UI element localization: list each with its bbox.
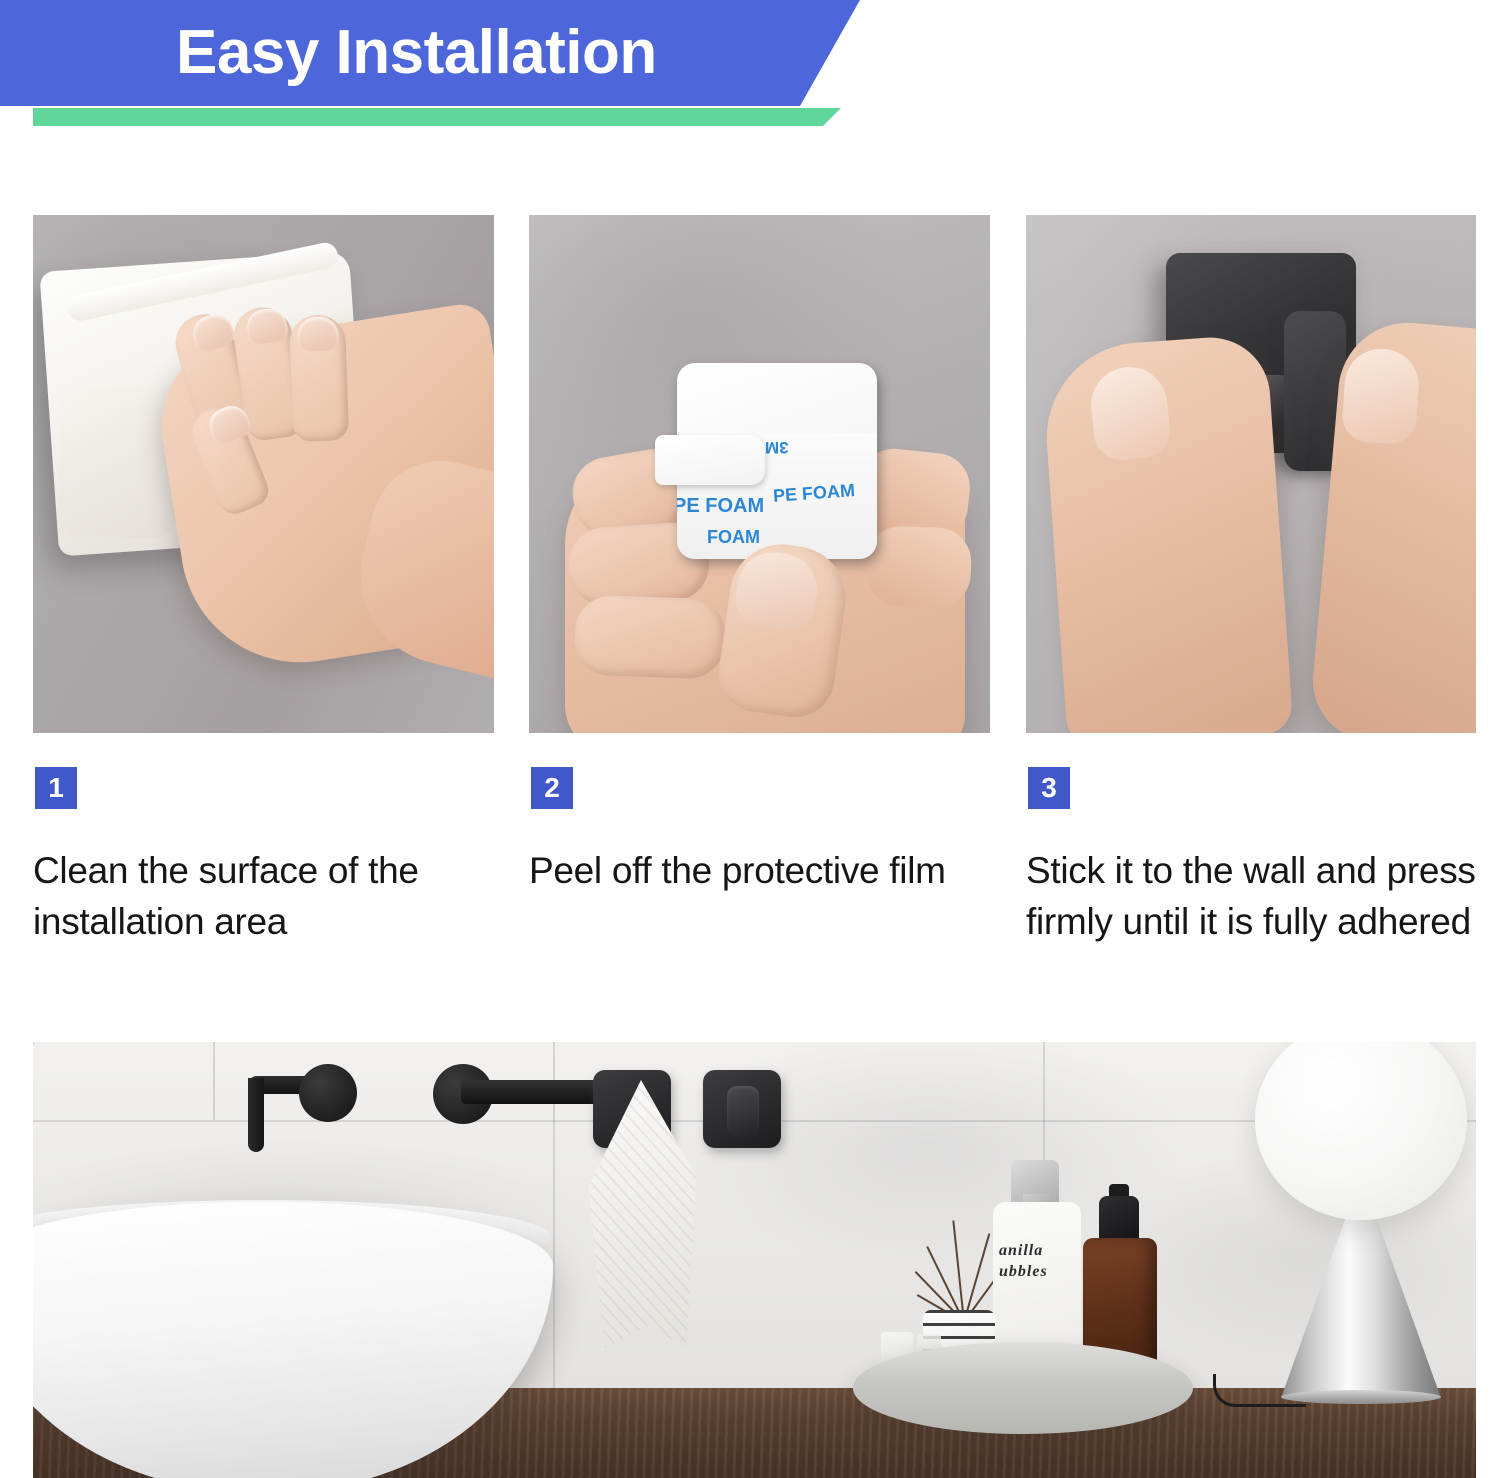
twig (963, 1233, 990, 1322)
step-3-number-badge: 3 (1028, 767, 1070, 809)
liner-text: PE FOAM (772, 480, 855, 507)
step-1-photo (33, 215, 494, 733)
step-3-caption: Stick it to the wall and press firmly un… (1026, 845, 1496, 947)
twig (952, 1220, 965, 1322)
step-2-number-badge: 2 (531, 767, 573, 809)
tile-grout-line (213, 1042, 215, 1120)
round-stone-tray (853, 1342, 1193, 1434)
bottle-label-text: anilla ubbles (999, 1240, 1083, 1282)
step-3-photo (1026, 215, 1476, 733)
mounted-hook-empty (703, 1070, 781, 1148)
liner-text: FOAM (707, 527, 760, 548)
lamp-base-foot (1281, 1390, 1441, 1404)
liner-text: PE FOAM (677, 495, 764, 518)
peel-tab (655, 435, 765, 485)
amber-bottle-pump (1099, 1196, 1139, 1244)
finger (574, 594, 727, 679)
step-2-photo: PE FOAM 3M PE FOAM 3M PE FOAM FOAM (529, 215, 990, 733)
liner-text: 3M (765, 437, 789, 457)
page-title: Easy Installation (176, 16, 657, 90)
faucet-spout (248, 1078, 264, 1152)
lifestyle-bathroom-photo: anilla ubbles (33, 1042, 1476, 1478)
step-1-caption: Clean the surface of the installation ar… (33, 845, 488, 947)
faucet-wall-plate (299, 1064, 357, 1122)
header-banner: Easy Installation (0, 0, 1500, 130)
step-1-number-badge: 1 (35, 767, 77, 809)
banner-green-accent-bar (33, 108, 841, 126)
fingernail (297, 316, 338, 351)
left-hand (1040, 334, 1293, 733)
faucet-handle-lever (461, 1080, 601, 1104)
adhesive-hook-pad: PE FOAM 3M PE FOAM 3M PE FOAM FOAM (677, 363, 877, 559)
installation-steps: 1 Clean the surface of the installation … (0, 215, 1500, 1015)
finger (866, 525, 973, 609)
fingernail (1341, 347, 1421, 446)
step-2-caption: Peel off the protective film (529, 845, 984, 896)
